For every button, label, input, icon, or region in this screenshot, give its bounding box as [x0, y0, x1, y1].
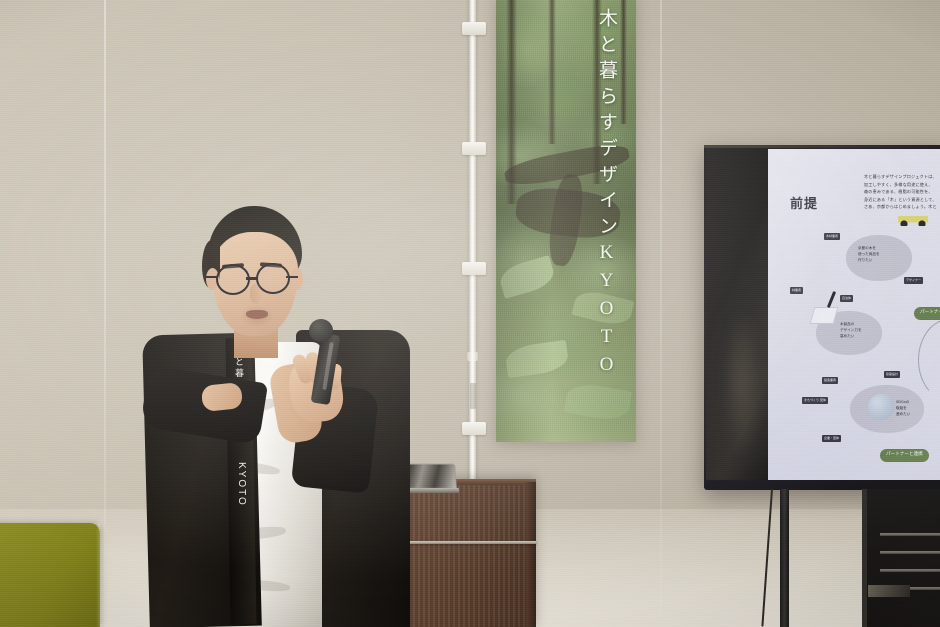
photo-scene: 木と暮らすデザインKYOTO 前提 木と暮らすデザインプロジェクトは、 加工しや…: [0, 0, 940, 627]
